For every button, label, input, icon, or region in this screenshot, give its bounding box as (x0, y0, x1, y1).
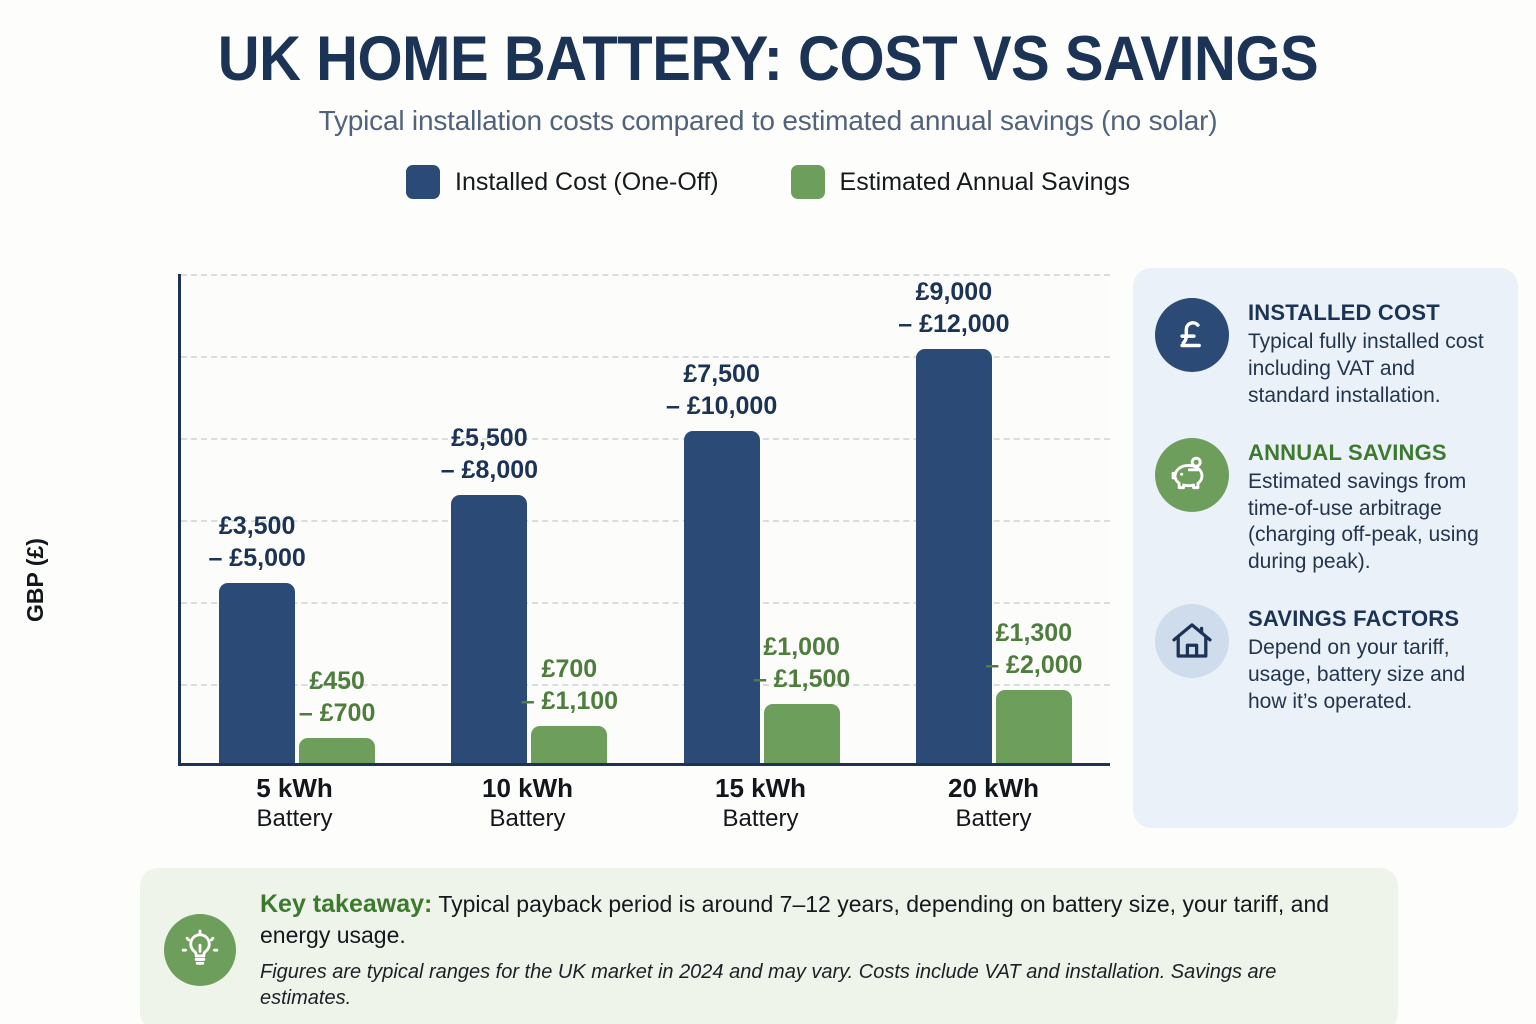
info-heading-installed-cost: INSTALLED COST (1248, 300, 1492, 326)
pound-icon (1155, 298, 1229, 372)
bar-label-cost-20kwh: £9,000 – £12,000 (898, 277, 1009, 340)
bar-group-10kwh: £5,500 – £8,000 £700 – £1,100 (422, 274, 637, 763)
x-axis-ticks: 5 kWh Battery 10 kWh Battery 15 kWh Batt… (178, 772, 1110, 834)
cost-swatch-icon (406, 165, 440, 199)
info-body-annual-savings: Estimated savings from time-of-use arbit… (1248, 469, 1492, 577)
bar-savings-20kwh[interactable]: £1,300 – £2,000 (996, 690, 1072, 763)
x-tick-15kwh: 15 kWh Battery (653, 772, 868, 834)
info-item-installed-cost: INSTALLED COST Typical fully installed c… (1155, 298, 1492, 410)
takeaway-main-line: Key takeaway: Typical payback period is … (260, 888, 1372, 950)
chart-legend: Installed Cost (One-Off) Estimated Annua… (0, 165, 1536, 199)
house-icon (1155, 604, 1229, 678)
info-body-installed-cost: Typical fully installed cost including V… (1248, 329, 1492, 410)
bar-label-savings-10kwh: £700 – £1,100 (521, 654, 618, 717)
savings-swatch-icon (791, 165, 825, 199)
takeaway-key-label: Key takeaway: (260, 890, 432, 918)
bar-groups: £3,500 – £5,000 £450 – £700 £ (181, 274, 1110, 763)
legend-label-savings: Estimated Annual Savings (840, 168, 1130, 197)
bar-label-savings-5kwh: £450 – £700 (299, 666, 375, 729)
bar-cost-5kwh[interactable]: £3,500 – £5,000 (219, 583, 295, 763)
page-subtitle: Typical installation costs compared to e… (0, 105, 1536, 137)
key-takeaway-banner: Key takeaway: Typical payback period is … (140, 868, 1398, 1024)
piggy-bank-icon (1155, 438, 1229, 512)
legend-label-cost: Installed Cost (One-Off) (455, 168, 719, 197)
plot-area: £3,500 – £5,000 £450 – £700 £ (178, 274, 1110, 766)
bar-savings-10kwh[interactable]: £700 – £1,100 (531, 726, 607, 763)
infographic-page: UK HOME BATTERY: COST VS SAVINGS Typical… (0, 0, 1536, 1024)
bar-label-cost-15kwh: £7,500 – £10,000 (666, 359, 777, 422)
header: UK HOME BATTERY: COST VS SAVINGS Typical… (0, 0, 1536, 137)
takeaway-footnote: Figures are typical ranges for the UK ma… (260, 959, 1372, 1011)
bar-label-cost-10kwh: £5,500 – £8,000 (441, 423, 538, 486)
bar-label-savings-15kwh: £1,000 – £1,500 (753, 632, 850, 695)
info-heading-savings-factors: SAVINGS FACTORS (1248, 606, 1492, 632)
x-tick-10kwh: 10 kWh Battery (420, 772, 635, 834)
lightbulb-icon (164, 914, 236, 986)
bar-savings-15kwh[interactable]: £1,000 – £1,500 (764, 704, 840, 763)
bar-label-cost-5kwh: £3,500 – £5,000 (208, 511, 305, 574)
x-tick-5kwh: 5 kWh Battery (187, 772, 402, 834)
page-title: UK HOME BATTERY: COST VS SAVINGS (61, 26, 1474, 92)
bar-chart: GBP (£) £12,000 £10,000 £8,000 £6,000 £4… (0, 252, 1125, 852)
bar-cost-10kwh[interactable]: £5,500 – £8,000 (451, 495, 527, 763)
bar-group-5kwh: £3,500 – £5,000 £450 – £700 (190, 274, 405, 763)
bar-cost-20kwh[interactable]: £9,000 – £12,000 (916, 349, 992, 763)
info-item-savings-factors: SAVINGS FACTORS Depend on your tariff, u… (1155, 604, 1492, 716)
legend-info-panel: INSTALLED COST Typical fully installed c… (1133, 268, 1518, 828)
bar-label-savings-20kwh: £1,300 – £2,000 (985, 618, 1082, 681)
legend-item-cost: Installed Cost (One-Off) (406, 165, 719, 199)
bar-cost-15kwh[interactable]: £7,500 – £10,000 (684, 431, 760, 763)
y-axis-title: GBP (£) (22, 538, 49, 622)
legend-item-savings: Estimated Annual Savings (791, 165, 1130, 199)
info-item-annual-savings: ANNUAL SAVINGS Estimated savings from ti… (1155, 438, 1492, 577)
bar-savings-5kwh[interactable]: £450 – £700 (299, 738, 375, 763)
takeaway-text-block: Key takeaway: Typical payback period is … (260, 888, 1372, 1011)
info-body-savings-factors: Depend on your tariff, usage, battery si… (1248, 635, 1492, 716)
bar-group-15kwh: £7,500 – £10,000 £1,000 – £1,500 (654, 274, 869, 763)
x-tick-20kwh: 20 kWh Battery (886, 772, 1101, 834)
bar-group-20kwh: £9,000 – £12,000 £1,300 – £2,000 (886, 274, 1101, 763)
info-heading-annual-savings: ANNUAL SAVINGS (1248, 440, 1492, 466)
